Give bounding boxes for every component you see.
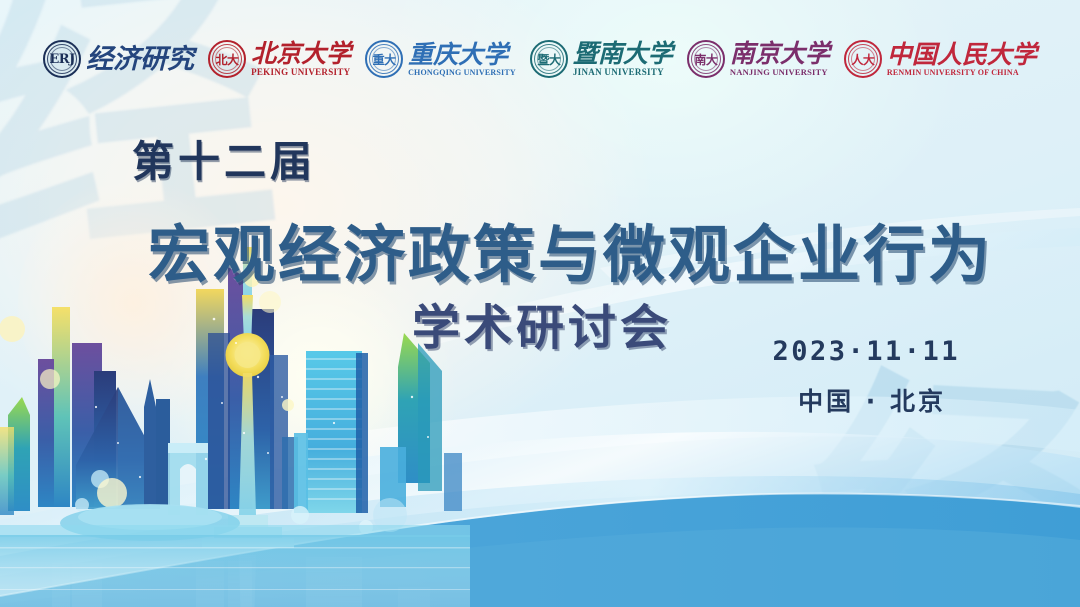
seal-emblem-nanjing: 南大	[694, 51, 717, 68]
logo-label-nanjing-university-en: NANJING UNIVERSITY	[730, 68, 830, 77]
logo-label-renmin-university-cn: 中国人民大学	[887, 42, 1037, 67]
logo-label-nanjing-university-cn: 南京大学	[730, 41, 830, 66]
logo-renmin-university-of-china[interactable]: 人大 中国人民大学 RENMIN UNIVERSITY OF CHINA	[837, 40, 1044, 78]
event-date: 2023·11·11	[772, 336, 960, 367]
subtitle: 学术研讨会	[412, 288, 672, 358]
glow-bokeh-1	[18, 178, 248, 428]
seal-emblem-renmin: 人大	[851, 51, 874, 68]
logo-nanjing-university[interactable]: 南大 南京大学 NANJING UNIVERSITY	[680, 40, 837, 78]
logo-peking-university[interactable]: 北大 北京大学 PEKING UNIVERSITY	[201, 40, 358, 78]
page-title: 宏观经济政策与微观企业行为	[148, 204, 993, 294]
seal-emblem-chongqing: 重大	[373, 51, 396, 68]
logo-label-peking-university-en: PEKING UNIVERSITY	[251, 68, 351, 77]
logo-label-chongqing-university-en: CHONGQING UNIVERSITY	[408, 69, 516, 77]
glow-bokeh-2	[150, 250, 470, 530]
logo-chongqing-university[interactable]: 重大 重庆大学 CHONGQING UNIVERSITY	[358, 40, 523, 78]
seal-emblem-peking: 北大	[216, 51, 239, 68]
logo-label-economic-research-journal: 经济研究	[86, 46, 194, 73]
logo-label-chongqing-university-cn: 重庆大学	[408, 42, 516, 67]
sponsor-logo-bar: ERJ 经济研究 北大 北京大学 PEKING UNIVERSITY 重大	[0, 26, 1080, 92]
beijing-skyline-illustration	[0, 247, 470, 607]
seal-monogram-erj: ERJ	[49, 52, 74, 67]
edition-label: 第十二届	[132, 128, 316, 189]
seal-emblem-jinan: 暨大	[537, 51, 560, 68]
conference-poster: 经 经	[0, 0, 1080, 607]
watermark-character-right: 经	[801, 366, 1080, 607]
logo-label-jinan-university-cn: 暨南大学	[573, 41, 673, 66]
glow-bokeh-3	[200, 270, 440, 480]
logo-economic-research-journal[interactable]: ERJ 经济研究	[36, 40, 201, 78]
logo-jinan-university[interactable]: 暨大 暨南大学 JINAN UNIVERSITY	[523, 40, 680, 78]
logo-label-renmin-university-en: RENMIN UNIVERSITY OF CHINA	[887, 69, 1037, 77]
event-location: 中国 · 北京	[798, 382, 946, 418]
logo-label-peking-university-cn: 北京大学	[251, 41, 351, 66]
logo-label-jinan-university-en: JINAN UNIVERSITY	[573, 68, 673, 77]
